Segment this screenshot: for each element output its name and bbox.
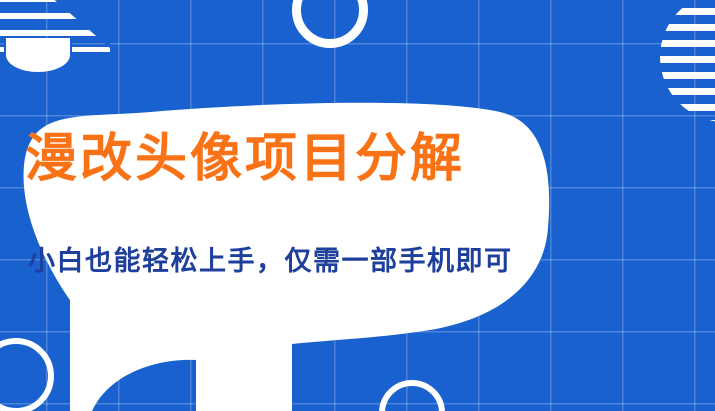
striped-circle-top-right-icon xyxy=(660,0,715,122)
striped-circle-fill xyxy=(660,0,715,122)
poster-canvas: 漫改头像项目分解 小白也能轻松上手，仅需一部手机即可 xyxy=(0,0,715,411)
text-block: 漫改头像项目分解 小白也能轻松上手，仅需一部手机即可 xyxy=(0,0,560,411)
page-title: 漫改头像项目分解 xyxy=(25,133,465,185)
page-subtitle: 小白也能轻松上手，仅需一部手机即可 xyxy=(28,248,513,275)
